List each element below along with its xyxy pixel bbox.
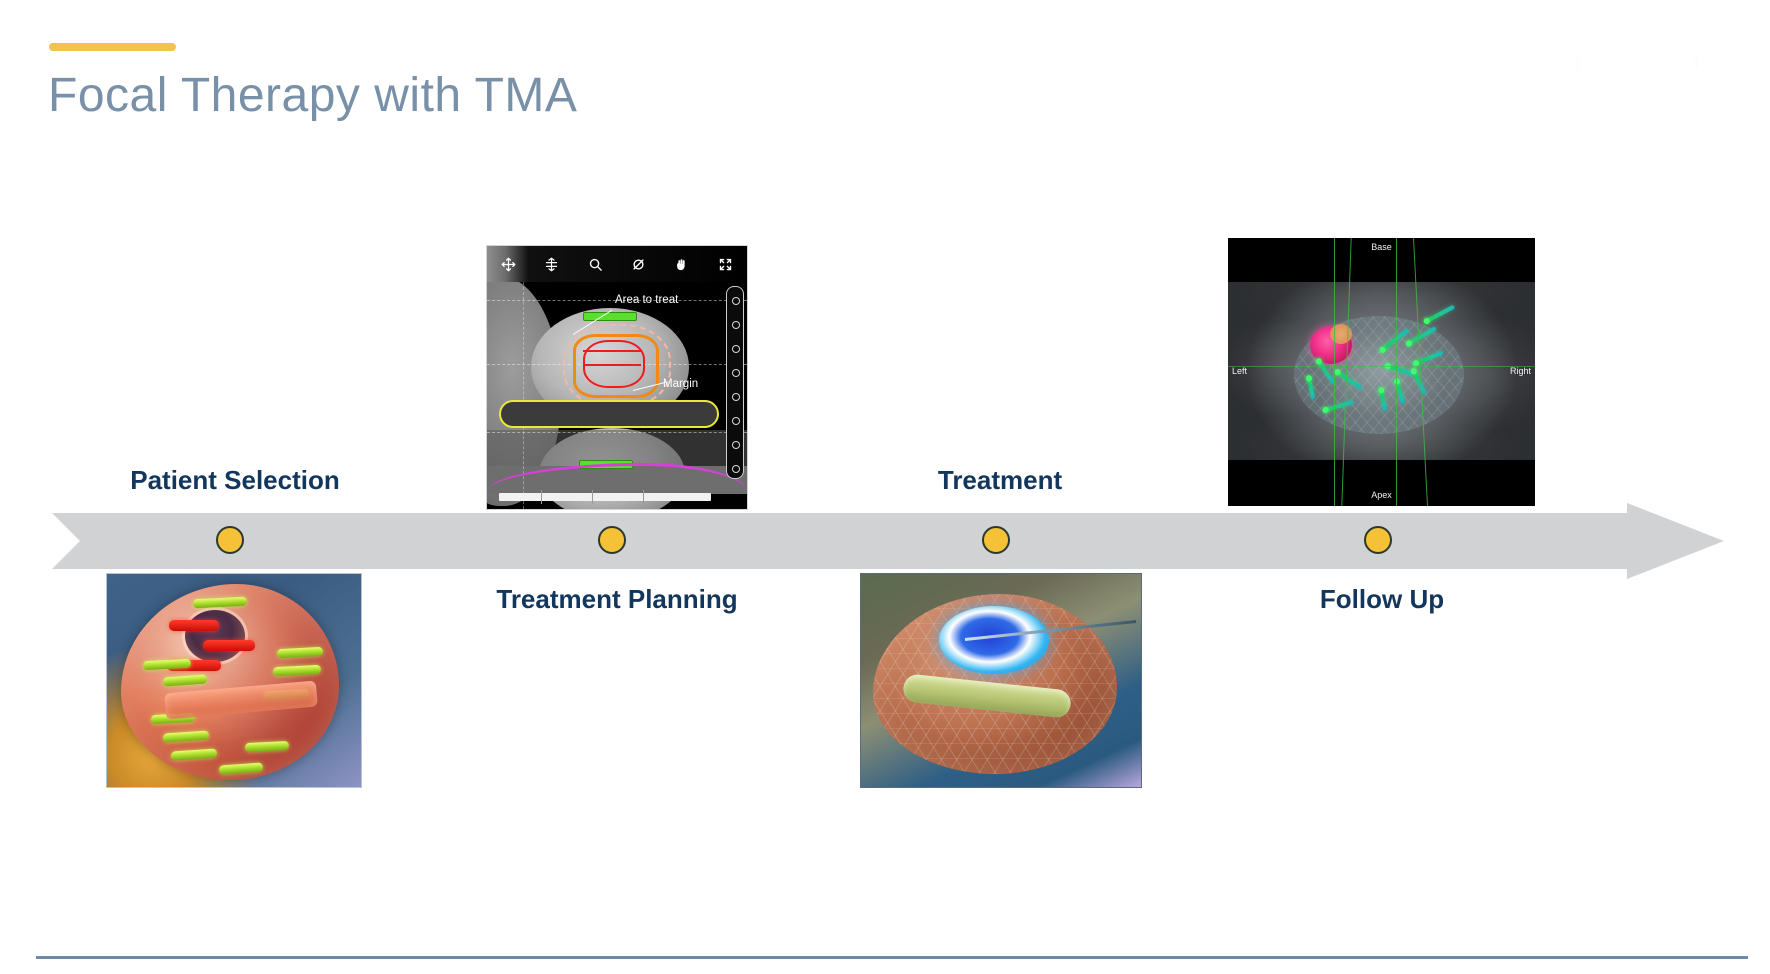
follow-up-image: Base Apex Left Right bbox=[1228, 238, 1535, 506]
treatment-planning-image: Area to treat Margin bbox=[486, 245, 748, 510]
annotation-margin: Margin bbox=[663, 378, 698, 390]
lesion-core bbox=[185, 610, 245, 662]
ablation-zone bbox=[939, 606, 1049, 674]
timeline-node-treatment[interactable] bbox=[982, 526, 1010, 554]
timeline-node-patient-selection[interactable] bbox=[216, 526, 244, 554]
fullscreen-icon[interactable] bbox=[704, 257, 747, 272]
stage-label-treatment: Treatment bbox=[938, 465, 1062, 496]
us-label-apex: Apex bbox=[1371, 490, 1392, 500]
process-timeline bbox=[52, 513, 1724, 569]
us-label-base: Base bbox=[1371, 242, 1392, 252]
patient-selection-image bbox=[106, 573, 362, 788]
timeline-arrowhead bbox=[1627, 503, 1724, 579]
pan-hand-icon[interactable] bbox=[660, 257, 703, 272]
zoom-icon[interactable] bbox=[574, 257, 617, 272]
timeline-node-follow-up[interactable] bbox=[1364, 526, 1392, 554]
title-accent-bar bbox=[49, 43, 176, 51]
slide-canvas: Focal Therapy with TMA ( T bbox=[0, 0, 1770, 974]
move-icon[interactable] bbox=[487, 257, 530, 272]
annotation-area-to-treat: Area to treat bbox=[615, 294, 678, 306]
treatment-image bbox=[860, 573, 1142, 788]
timeline-node-treatment-planning[interactable] bbox=[598, 526, 626, 554]
us-label-left: Left bbox=[1232, 366, 1247, 376]
corner-mark-left: ( bbox=[1576, 55, 1581, 72]
slice-rail[interactable] bbox=[726, 286, 744, 479]
stage-label-follow-up: Follow Up bbox=[1320, 584, 1444, 615]
flip-icon[interactable] bbox=[530, 257, 573, 272]
slice-scrubber[interactable] bbox=[499, 493, 711, 501]
footer-divider bbox=[36, 956, 1748, 959]
stage-label-patient-selection: Patient Selection bbox=[130, 465, 340, 496]
page-title: Focal Therapy with TMA bbox=[48, 68, 577, 123]
marker-rod bbox=[203, 640, 255, 651]
stage-label-treatment-planning: Treatment Planning bbox=[496, 584, 737, 615]
viewer-toolbar[interactable] bbox=[487, 246, 747, 282]
corner-mark-right: T bbox=[1692, 55, 1701, 72]
marker-rod bbox=[169, 620, 219, 631]
us-label-right: Right bbox=[1510, 366, 1531, 376]
planning-canvas: Area to treat Margin bbox=[487, 282, 747, 509]
timeline-shaft bbox=[52, 513, 1647, 569]
opacity-icon[interactable] bbox=[617, 257, 660, 272]
